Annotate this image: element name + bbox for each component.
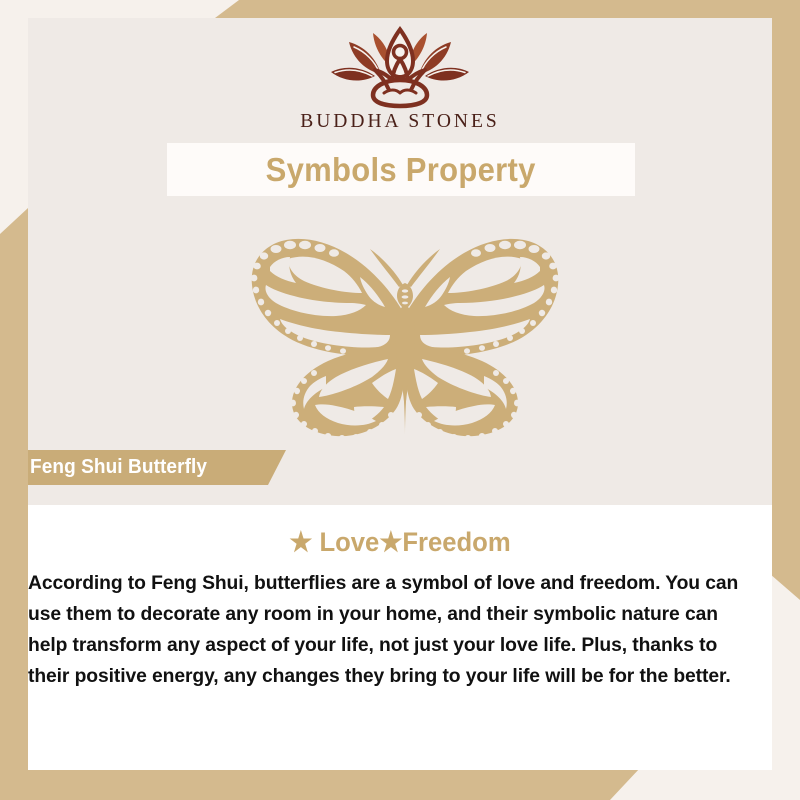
page-title: Symbols Property bbox=[266, 151, 536, 189]
title-banner: Symbols Property bbox=[167, 143, 635, 196]
poster-root: BUDDHA STONES Symbols Property bbox=[0, 0, 800, 800]
butterfly-illustration bbox=[210, 223, 600, 453]
frame-accent-bottom bbox=[0, 768, 640, 800]
frame-accent-right bbox=[770, 0, 800, 600]
feng-shui-butterfly-ribbon: Feng Shui Butterfly bbox=[28, 450, 286, 485]
lotus-meditation-icon bbox=[325, 24, 475, 109]
content-plate: BUDDHA STONES Symbols Property bbox=[28, 18, 772, 770]
frame-accent-top bbox=[215, 0, 800, 18]
article-heading: ★ Love★Freedom bbox=[47, 527, 754, 558]
brand-logo: BUDDHA STONES bbox=[28, 18, 772, 138]
butterfly-icon bbox=[210, 223, 600, 453]
ribbon-label: Feng Shui Butterfly bbox=[30, 456, 207, 479]
brand-name: BUDDHA STONES bbox=[300, 111, 500, 133]
frame-accent-left bbox=[0, 208, 28, 800]
article-body: According to Feng Shui, butterflies are … bbox=[28, 568, 761, 692]
article-panel: ★ Love★Freedom According to Feng Shui, b… bbox=[28, 505, 772, 770]
